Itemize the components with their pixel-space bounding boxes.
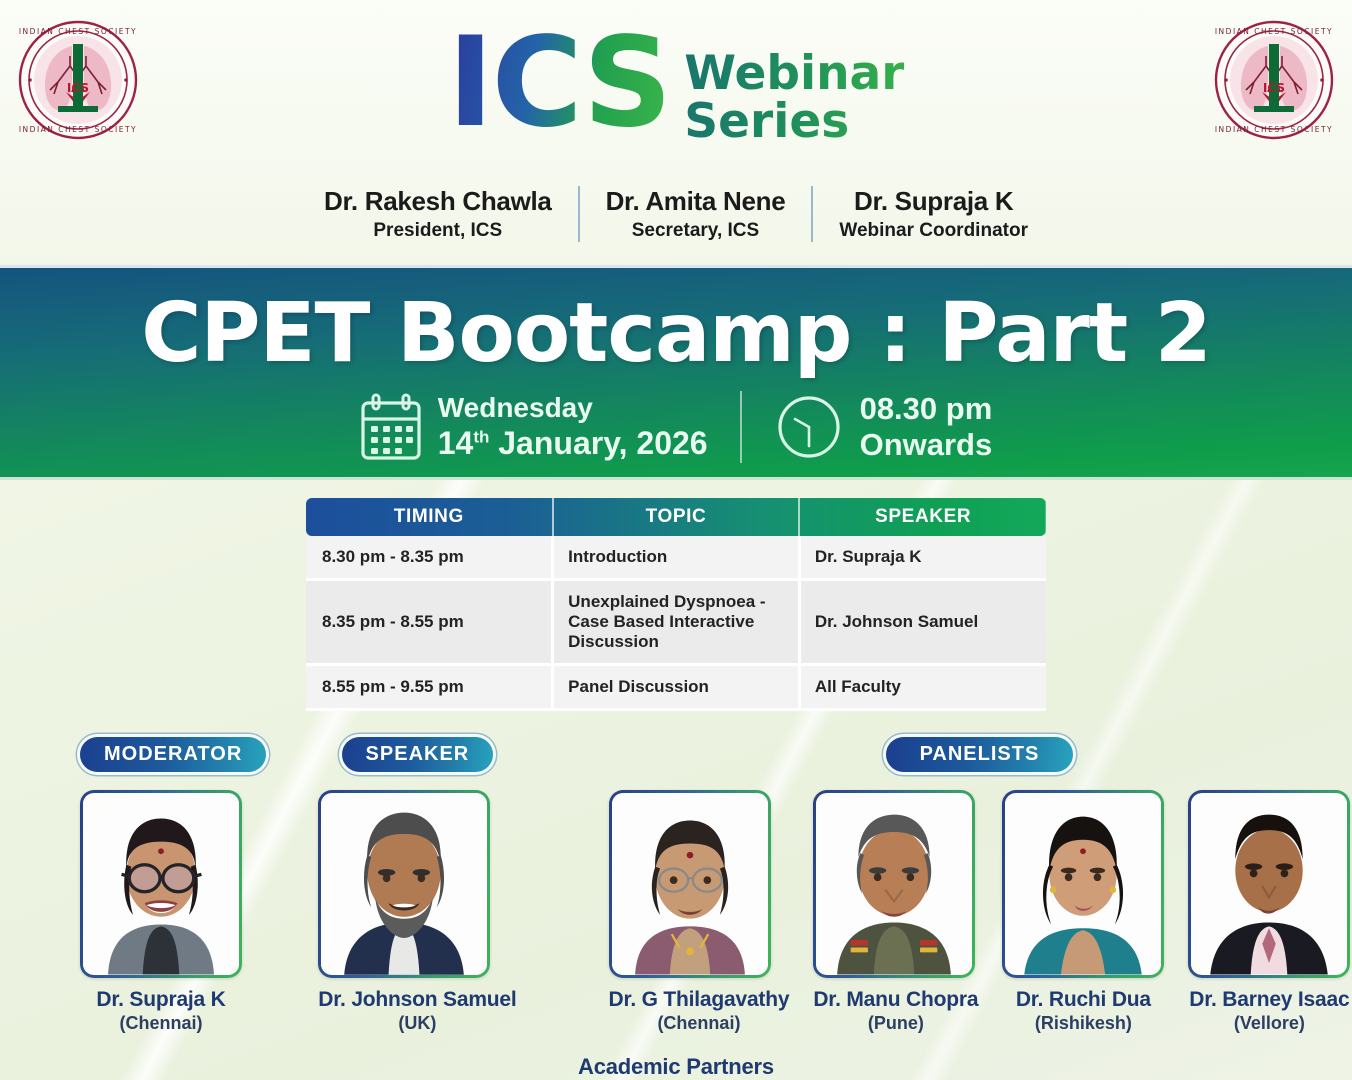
photo-frame (318, 790, 490, 978)
person-card-panelist: Dr. Barney Isaac (Vellore) (1188, 790, 1350, 1034)
topic-line-1: Introduction (568, 547, 667, 566)
person-card-panelist: Dr. G Thilagavathy (Chennai) (609, 790, 790, 1034)
brand-webinar-text: Webinar (684, 50, 904, 98)
event-time: 08.30 pm (860, 391, 993, 427)
brand-series-text: Series (684, 98, 904, 146)
speaker-group: SPEAKER (318, 737, 516, 1034)
clock-icon (774, 392, 844, 462)
person-location: (Chennai) (609, 1013, 790, 1034)
officer-name: Dr. Supraja K (839, 186, 1028, 217)
person-name: Dr. G Thilagavathy (609, 988, 790, 1012)
table-row: 8.30 pm - 8.35 pm Introduction Dr. Supra… (306, 536, 1046, 580)
event-date: 14th January, 2026 (438, 425, 708, 462)
officer-webinar-coordinator: Dr. Supraja K Webinar Coordinator (811, 186, 1054, 242)
event-date-block: Wednesday 14th January, 2026 (328, 392, 740, 462)
person-location: (Rishikesh) (1002, 1013, 1164, 1034)
officer-secretary: Dr. Amita Nene Secretary, ICS (578, 186, 812, 242)
schedule-table-head: TIMING TOPIC SPEAKER (306, 498, 1046, 536)
event-date-rest: January, 2026 (489, 425, 707, 461)
academic-partners-label: Academic Partners (0, 1054, 1352, 1080)
table-row: 8.55 pm - 9.55 pm Panel Discussion All F… (306, 665, 1046, 710)
portrait-ruchi-dua (1005, 793, 1161, 975)
portrait-barney-isaac (1191, 793, 1347, 975)
topic-line-2: Case Based Interactive Discussion (568, 612, 784, 652)
person-name: Dr. Johnson Samuel (318, 988, 516, 1012)
event-time-block: 08.30 pm Onwards (740, 391, 1025, 463)
webinar-poster: ICS INDIAN CHEST SOCIETY INDIAN CHEST SO… (0, 0, 1352, 1080)
officers-row: Dr. Rakesh Chawla President, ICS Dr. Ami… (0, 186, 1352, 242)
brand-lockup: ICS Webinar Series (0, 26, 1352, 146)
person-card-moderator: Dr. Supraja K (Chennai) (80, 790, 242, 1034)
topic-line-1: Panel Discussion (568, 677, 709, 696)
photo-frame (609, 790, 771, 978)
portrait-manu-chopra (816, 793, 972, 975)
avatar (612, 793, 768, 975)
event-time-suffix: Onwards (860, 427, 993, 463)
schedule-table: TIMING TOPIC SPEAKER 8.30 pm - 8.35 pm I… (306, 498, 1046, 711)
cell-speaker: Dr. Johnson Samuel (799, 580, 1046, 665)
panelists-group: PANELISTS (609, 737, 1351, 1034)
cell-timing: 8.55 pm - 9.55 pm (306, 665, 553, 710)
avatar (816, 793, 972, 975)
officer-role: Webinar Coordinator (839, 220, 1028, 242)
cell-speaker: All Faculty (799, 665, 1046, 710)
officer-role: President, ICS (324, 220, 552, 242)
event-title: CPET Bootcamp : Part 2 (0, 268, 1352, 381)
avatar (1005, 793, 1161, 975)
poster-header: ICS INDIAN CHEST SOCIETY INDIAN CHEST SO… (0, 0, 1352, 265)
cell-topic: Introduction (553, 536, 800, 580)
person-location: (Vellore) (1188, 1013, 1350, 1034)
badge-panelists: PANELISTS (886, 737, 1074, 772)
person-name: Dr. Barney Isaac (1188, 988, 1350, 1012)
cell-speaker: Dr. Supraja K (799, 536, 1046, 580)
avatar (321, 793, 487, 975)
cell-timing: 8.30 pm - 8.35 pm (306, 536, 553, 580)
cell-topic: Unexplained Dyspnoea - Case Based Intera… (553, 580, 800, 665)
badge-moderator: MODERATOR (80, 737, 266, 772)
person-card-panelist: Dr. Ruchi Dua (Rishikesh) (1002, 790, 1164, 1034)
column-header-speaker: SPEAKER (799, 498, 1046, 536)
officer-president: Dr. Rakesh Chawla President, ICS (298, 186, 578, 242)
column-header-topic: TOPIC (553, 498, 800, 536)
person-name: Dr. Supraja K (80, 988, 242, 1012)
person-location: (UK) (318, 1013, 516, 1034)
person-card-panelist: Dr. Manu Chopra (Pune) (813, 790, 978, 1034)
brand-ics-wordmark: ICS (448, 26, 671, 140)
event-date-ordinal: th (473, 427, 489, 446)
person-card-speaker: Dr. Johnson Samuel (UK) (318, 790, 516, 1034)
title-banner: CPET Bootcamp : Part 2 (0, 265, 1352, 480)
table-row: 8.35 pm - 8.55 pm Unexplained Dyspnoea -… (306, 580, 1046, 665)
topic-line-1: Unexplained Dyspnoea - (568, 592, 765, 611)
footer-partners: Academic Partners (0, 1054, 1352, 1080)
event-date-number: 14 (438, 425, 474, 461)
officer-role: Secretary, ICS (606, 220, 786, 242)
badge-speaker: SPEAKER (342, 737, 494, 772)
faculty-section: MODERATOR (0, 737, 1352, 1034)
person-location: (Chennai) (80, 1013, 242, 1034)
photo-frame (813, 790, 975, 978)
cell-timing: 8.35 pm - 8.55 pm (306, 580, 553, 665)
moderator-group: MODERATOR (80, 737, 266, 1034)
portrait-g-thilagavathy (612, 793, 768, 975)
cell-topic: Panel Discussion (553, 665, 800, 710)
schedule-table-wrapper: TIMING TOPIC SPEAKER 8.30 pm - 8.35 pm I… (306, 498, 1046, 711)
person-name: Dr. Manu Chopra (813, 988, 978, 1012)
person-name: Dr. Ruchi Dua (1002, 988, 1164, 1012)
portrait-supraja-k (83, 793, 239, 975)
event-meta-row: Wednesday 14th January, 2026 08.30 pm On… (0, 391, 1352, 463)
calendar-icon (360, 393, 422, 461)
portrait-johnson-samuel (321, 793, 487, 975)
avatar (1191, 793, 1347, 975)
officer-name: Dr. Amita Nene (606, 186, 786, 217)
photo-frame (1002, 790, 1164, 978)
person-location: (Pune) (813, 1013, 978, 1034)
column-header-timing: TIMING (306, 498, 553, 536)
photo-frame (80, 790, 242, 978)
schedule-table-body: 8.30 pm - 8.35 pm Introduction Dr. Supra… (306, 536, 1046, 710)
officer-name: Dr. Rakesh Chawla (324, 186, 552, 217)
photo-frame (1188, 790, 1350, 978)
event-day: Wednesday (438, 392, 708, 424)
schedule-header-row: TIMING TOPIC SPEAKER (306, 498, 1046, 536)
avatar (83, 793, 239, 975)
